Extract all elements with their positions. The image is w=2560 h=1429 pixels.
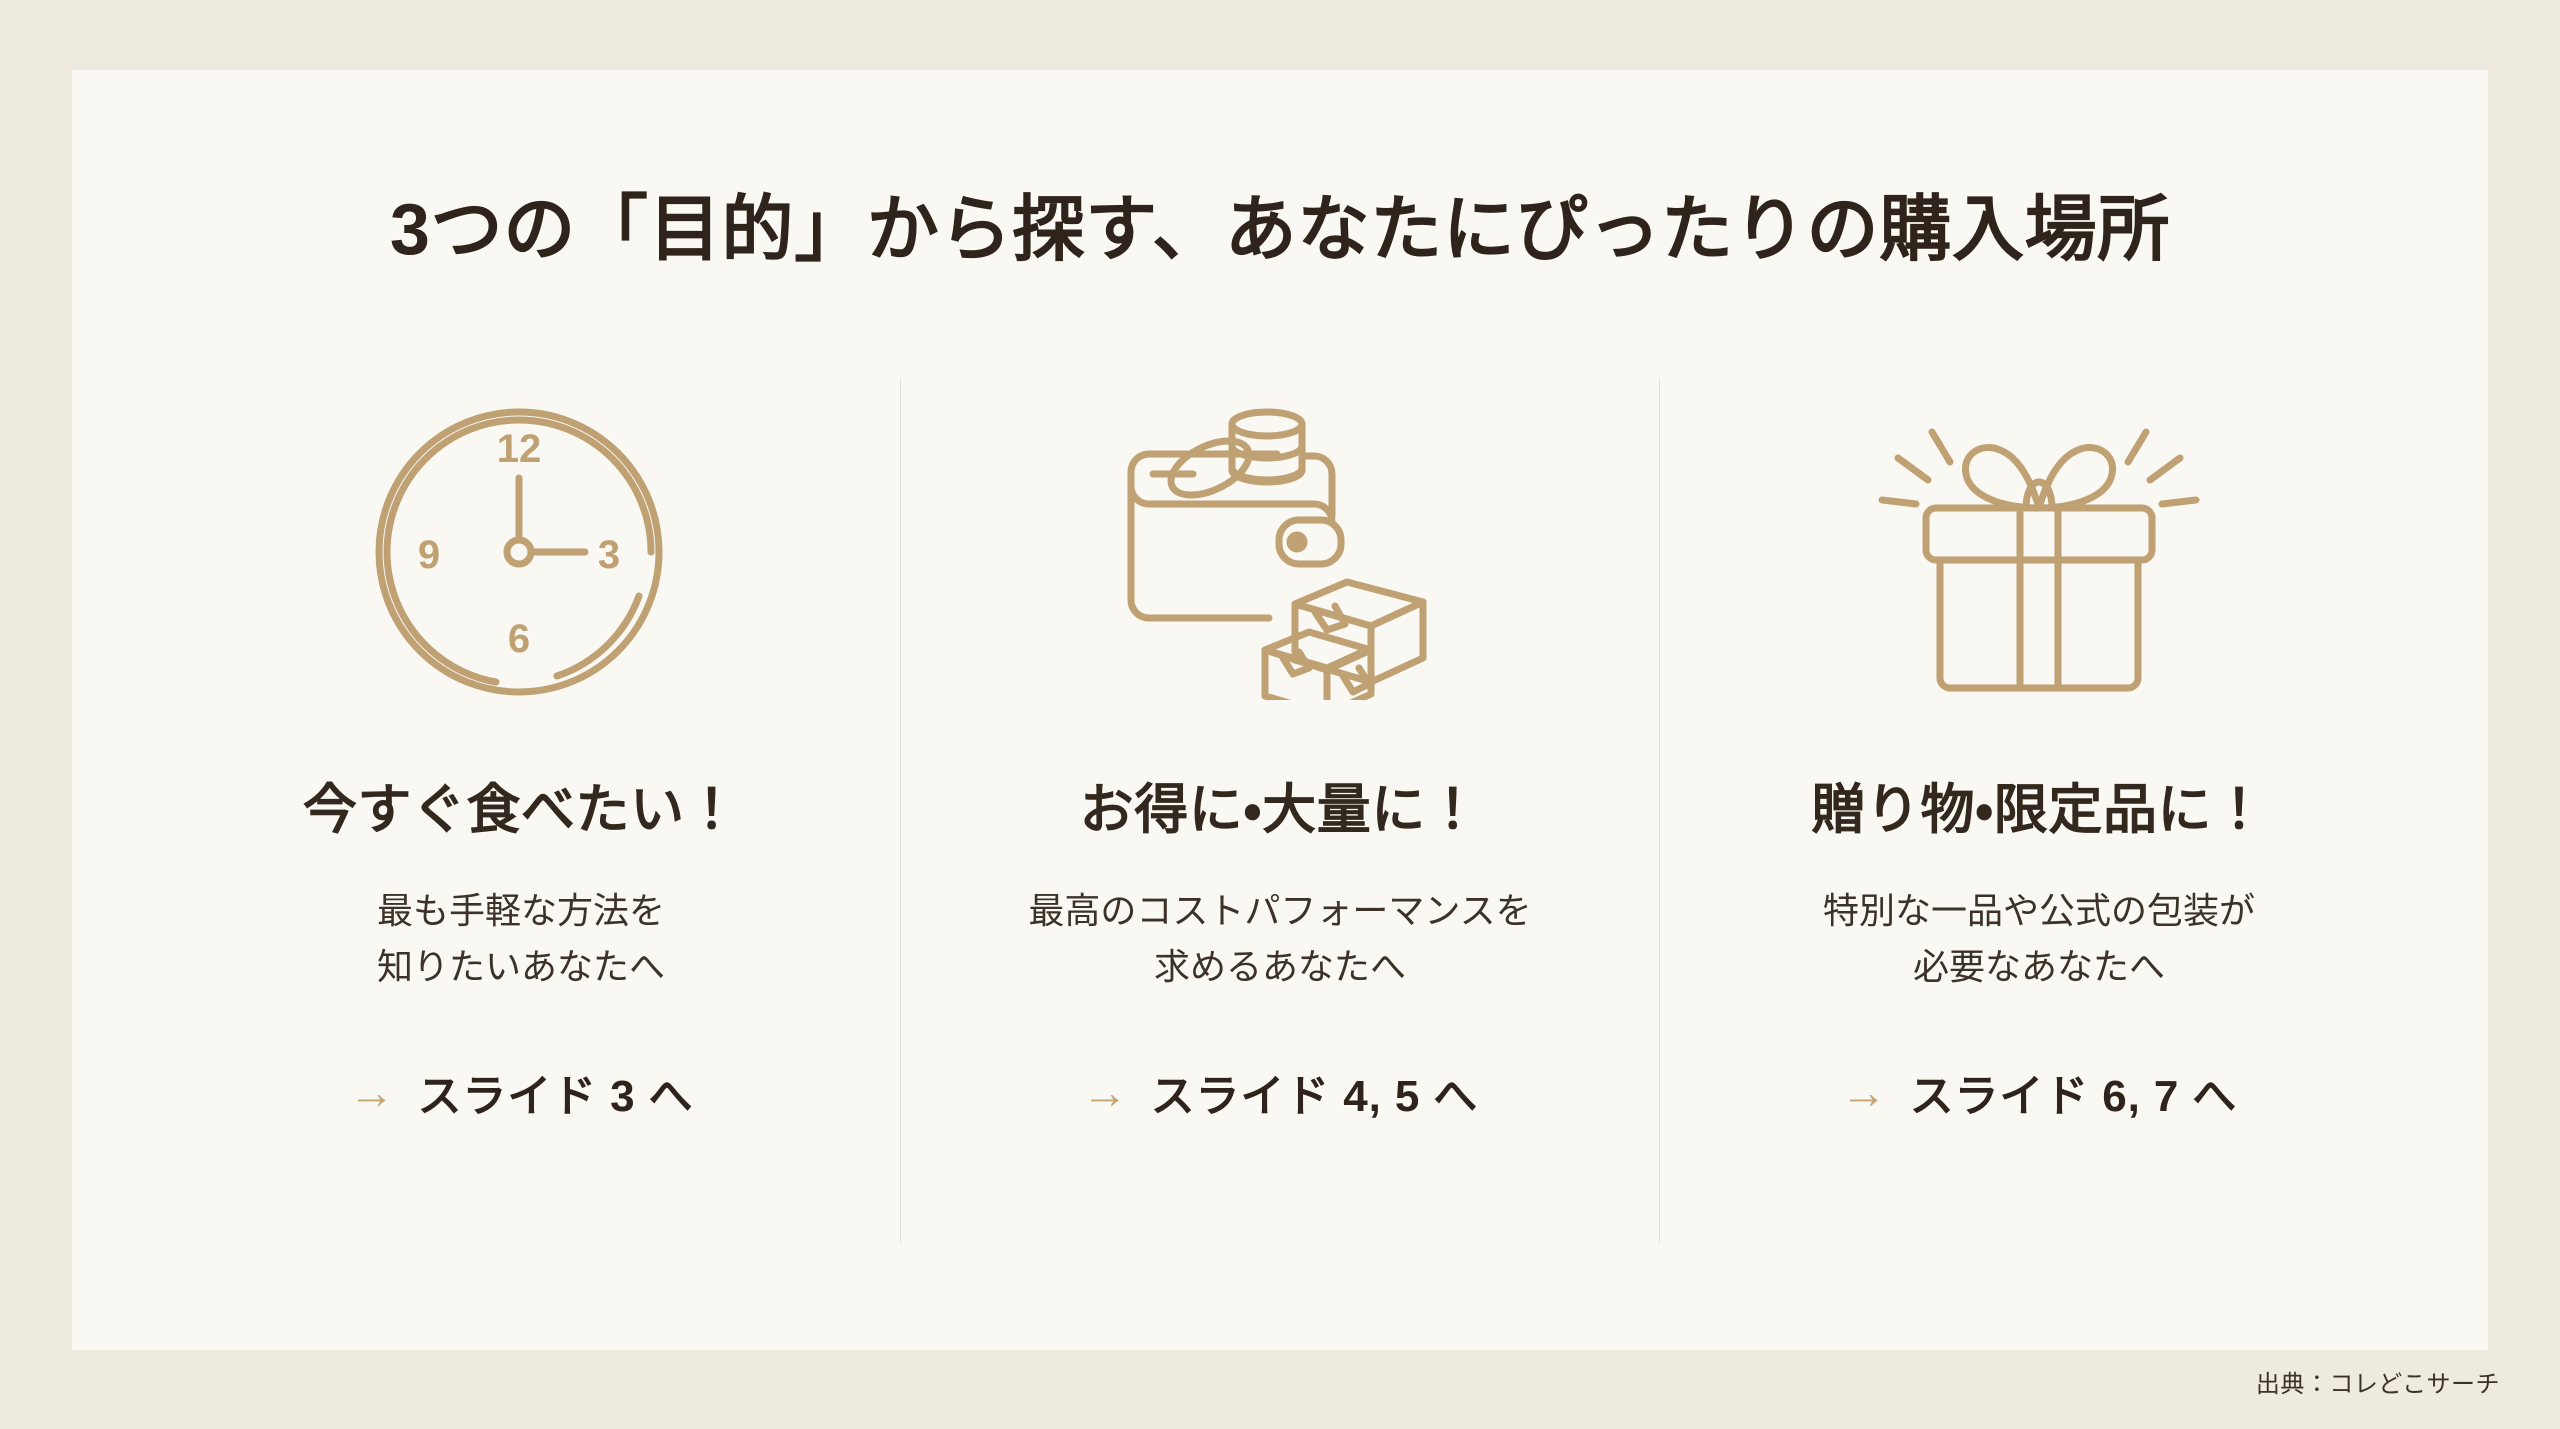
arrow-right-icon: → [349,1069,396,1115]
column-heading: 今すぐ食べたい！ [303,778,739,843]
slide-link-4-5[interactable]: → スライド 4, 5 へ [1082,1060,1478,1124]
column-heading: 贈り物・限定品に！ [1811,778,2266,843]
purpose-column-value[interactable]: お得に・大量に！ 最高のコストパフォーマンスを 求めるあなたへ → スライド 4… [901,370,1659,1250]
purpose-column-now[interactable]: 12 3 6 9 今すぐ食べたい！ 最も手軽な方法を 知りたいあなたへ → スラ… [142,370,900,1250]
slide-link-6-7[interactable]: → スライド 6, 7 へ [1841,1060,2237,1124]
slide-link-3[interactable]: → スライド 3 へ [349,1060,694,1124]
slide-card: 3つの「目的」から探す、あなたにぴったりの購入場所 12 3 6 9 今すぐ食べ… [72,70,2488,1350]
column-description: 最も手軽な方法を 知りたいあなたへ [377,883,665,995]
wallet-coins-boxes-icon [1115,370,1445,730]
purpose-column-gift[interactable]: 贈り物・限定品に！ 特別な一品や公式の包装が 必要なあなたへ → スライド 6,… [1660,370,2418,1250]
purpose-columns: 12 3 6 9 今すぐ食べたい！ 最も手軽な方法を 知りたいあなたへ → スラ… [142,370,2418,1250]
page-title: 3つの「目的」から探す、あなたにぴったりの購入場所 [72,170,2488,275]
arrow-right-icon: → [1841,1069,1888,1115]
svg-text:9: 9 [418,533,440,577]
svg-text:6: 6 [508,617,530,661]
clock-icon: 12 3 6 9 [371,370,671,730]
source-note: 出典：コレどこサーチ [2256,1364,2500,1399]
arrow-right-icon: → [1082,1069,1129,1115]
slide-link-label: スライド 3 へ [417,1060,693,1124]
column-description: 最高のコストパフォーマンスを 求めるあなたへ [1028,883,1531,995]
gift-box-icon [1874,370,2204,730]
slide-link-label: スライド 6, 7 へ [1910,1060,2238,1124]
svg-text:3: 3 [598,533,620,577]
slide-link-label: スライド 4, 5 へ [1151,1060,1479,1124]
column-description: 特別な一品や公式の包装が 必要なあなたへ [1823,883,2255,995]
column-heading: お得に・大量に！ [1080,778,1481,843]
svg-text:12: 12 [497,427,542,471]
